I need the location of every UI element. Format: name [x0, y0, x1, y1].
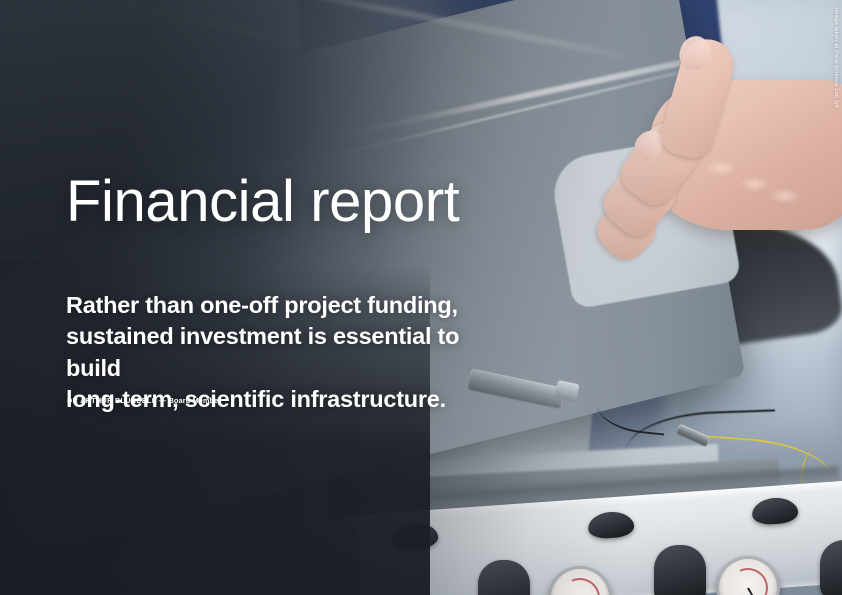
report-cover-page: Financial report Rather than one-off pro… — [0, 0, 842, 595]
page-title: Financial report — [66, 172, 459, 231]
attribution-role: Board Member — [169, 396, 222, 405]
attribution-separator: — — [159, 396, 167, 405]
pull-quote-line-1: Rather than one-off project funding, — [66, 290, 496, 321]
quote-attribution: DR ARTHUR BLUNDELL — Board Member — [67, 396, 221, 405]
attribution-name: DR ARTHUR BLUNDELL — [67, 396, 156, 405]
pull-quote-line-2: sustained investment is essential to bui… — [66, 321, 496, 384]
hero-text-block: Financial report Rather than one-off pro… — [66, 0, 586, 595]
photo-credit: Image taken at Para Science Ltd, UK — [833, 8, 839, 109]
